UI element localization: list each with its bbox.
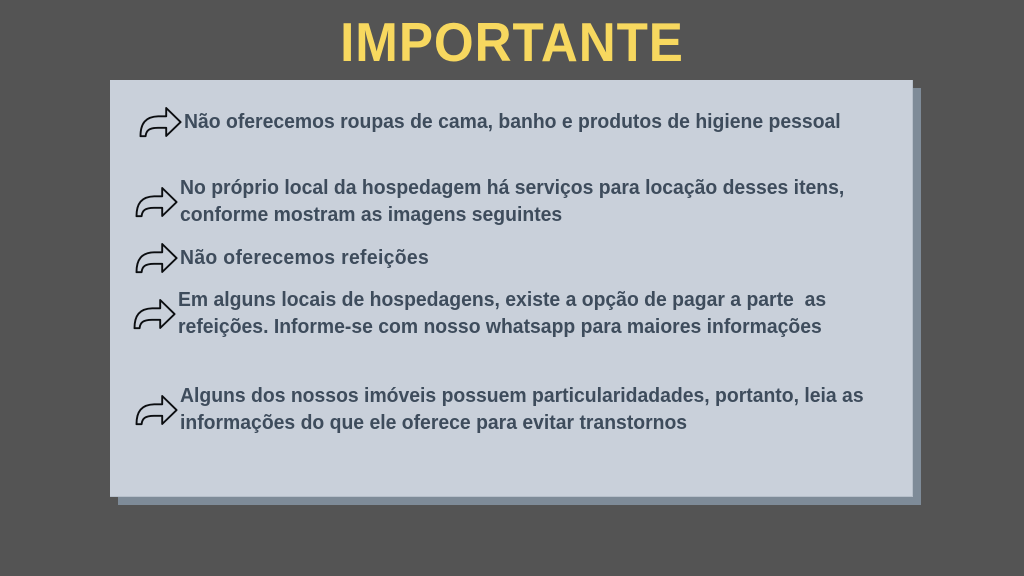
curved-block-arrow-right-icon — [132, 239, 180, 277]
list-item: Não oferecemos refeições — [132, 239, 732, 277]
curved-block-arrow-right-icon — [136, 103, 184, 141]
content-panel: Não oferecemos roupas de cama, banho e p… — [110, 80, 913, 497]
list-item: Em alguns locais de hospedagens, existe … — [130, 287, 912, 340]
curved-block-arrow-right-icon — [132, 391, 180, 429]
list-item-label: No próprio local da hospedagem há serviç… — [180, 175, 872, 228]
curved-block-arrow-right-icon — [130, 295, 178, 333]
bullet-list: Não oferecemos roupas de cama, banho e p… — [110, 80, 912, 496]
list-item: No próprio local da hospedagem há serviç… — [132, 175, 912, 228]
page-title: IMPORTANTE — [36, 13, 988, 71]
list-item-label: Não oferecemos refeições — [180, 245, 702, 272]
list-item-label: Não oferecemos roupas de cama, banho e p… — [184, 109, 866, 136]
curved-block-arrow-right-icon — [132, 183, 180, 221]
list-item: Não oferecemos roupas de cama, banho e p… — [136, 103, 906, 141]
list-item: Alguns dos nossos imóveis possuem partic… — [132, 383, 914, 436]
list-item-label: Alguns dos nossos imóveis possuem partic… — [180, 383, 874, 436]
list-item-label: Em alguns locais de hospedagens, existe … — [178, 287, 872, 340]
presentation-slide: IMPORTANTE Não oferecemos roupas de cama… — [0, 0, 1024, 576]
